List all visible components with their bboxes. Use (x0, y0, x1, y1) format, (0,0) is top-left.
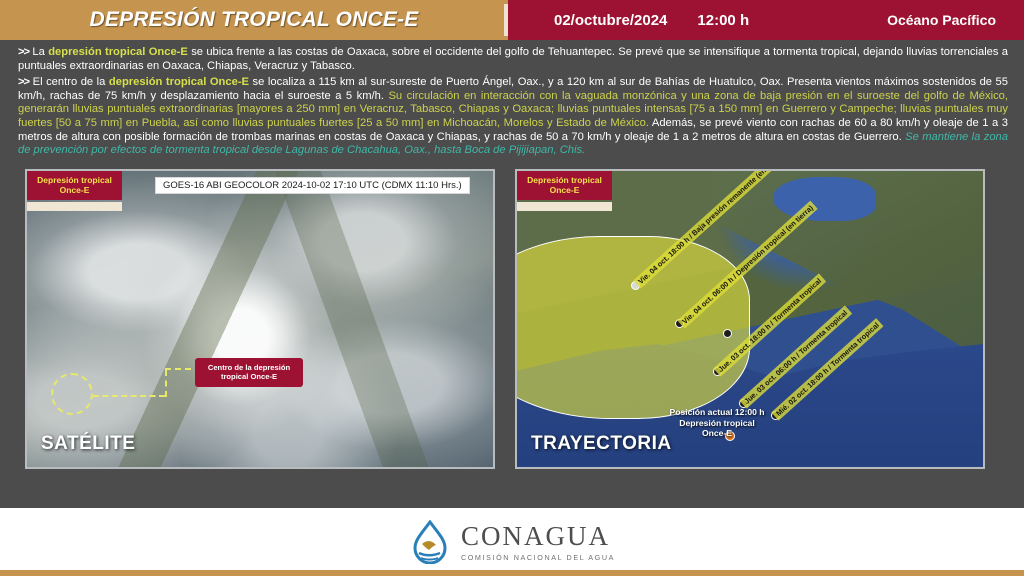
header-bar: DEPRESIÓN TROPICAL ONCE-E 02/octubre/202… (0, 0, 1024, 40)
bulletin-date: 02/octubre/2024 (554, 12, 667, 29)
satellite-source-stamp: GOES-16 ABI GEOCOLOR 2024-10-02 17:10 UT… (155, 177, 470, 194)
bullet-marker-2: >> (18, 76, 29, 88)
water-drop-eagle-icon (409, 520, 451, 564)
header-meta-zone: 02/octubre/2024 12:00 h Océano Pacífico (508, 0, 1024, 40)
satellite-tag-line2: Once-E (37, 185, 112, 195)
trajectory-panel[interactable]: Depresión tropical Once-E Vie. 04 oct. 1… (515, 169, 985, 469)
satellite-landmass-overlay (27, 171, 493, 467)
footer-bar: CONAGUA COMISIÓN NACIONAL DEL AGUA (0, 508, 1024, 576)
satellite-storm-tag: Depresión tropical Once-E (27, 171, 122, 200)
conagua-logo: CONAGUA COMISIÓN NACIONAL DEL AGUA (409, 520, 615, 564)
bullet1-lead: La (32, 46, 44, 58)
page-title: DEPRESIÓN TROPICAL ONCE-E (90, 8, 419, 32)
trajectory-panel-label: TRAYECTORIA (531, 433, 672, 455)
callout-leader-vertical (165, 370, 167, 397)
storm-center-callout: Centro de la depresión tropical Once-E (195, 358, 303, 387)
bulletin-paragraph-1: >> La depresión tropical Once-E se ubica… (18, 46, 1008, 73)
bulletin-text-block: >> La depresión tropical Once-E se ubica… (0, 40, 1024, 165)
storm-center-circle-icon (51, 373, 93, 415)
bullet1-storm-name: depresión tropical Once-E (48, 46, 188, 58)
satellite-tag-footer-strip (27, 202, 122, 211)
current-position-label: Posición actual 12:00 h Depresión tropic… (657, 407, 777, 439)
trajectory-tag-line2: Once-E (527, 185, 602, 195)
current-position-line3: Once-E (657, 428, 777, 439)
trajectory-tag-footer-strip (517, 202, 612, 211)
satellite-panel[interactable]: Depresión tropical Once-E GOES-16 ABI GE… (25, 169, 495, 469)
bulletin-time: 12:00 h (697, 12, 749, 29)
imagery-panels: Depresión tropical Once-E GOES-16 ABI GE… (0, 169, 1024, 469)
satellite-tag-line1: Depresión tropical (37, 175, 112, 185)
trajectory-storm-tag: Depresión tropical Once-E (517, 171, 612, 200)
current-position-line2: Depresión tropical (657, 418, 777, 429)
satellite-panel-label: SATÉLITE (41, 433, 135, 455)
conagua-subtitle: COMISIÓN NACIONAL DEL AGUA (461, 553, 615, 562)
forecast-cone (515, 236, 750, 420)
bulletin-paragraph-2: >> El centro de la depresión tropical On… (18, 76, 1008, 158)
trajectory-lagoon (773, 177, 876, 221)
header-title-zone: DEPRESIÓN TROPICAL ONCE-E (0, 0, 508, 40)
bullet2-storm-name: depresión tropical Once-E (109, 76, 249, 88)
track-point-aux[interactable] (723, 329, 732, 338)
footer-accent-rule (0, 570, 1024, 576)
conagua-name: CONAGUA (461, 523, 615, 550)
bullet2-lead: El centro de la (33, 76, 106, 88)
callout-leader-horizontal (93, 395, 165, 397)
current-position-line1: Posición actual 12:00 h (657, 407, 777, 418)
conagua-wordmark: CONAGUA COMISIÓN NACIONAL DEL AGUA (461, 523, 615, 562)
ocean-basin-label: Océano Pacífico (887, 12, 996, 28)
bullet-marker-1: >> (18, 46, 29, 58)
trajectory-tag-line1: Depresión tropical (527, 175, 602, 185)
